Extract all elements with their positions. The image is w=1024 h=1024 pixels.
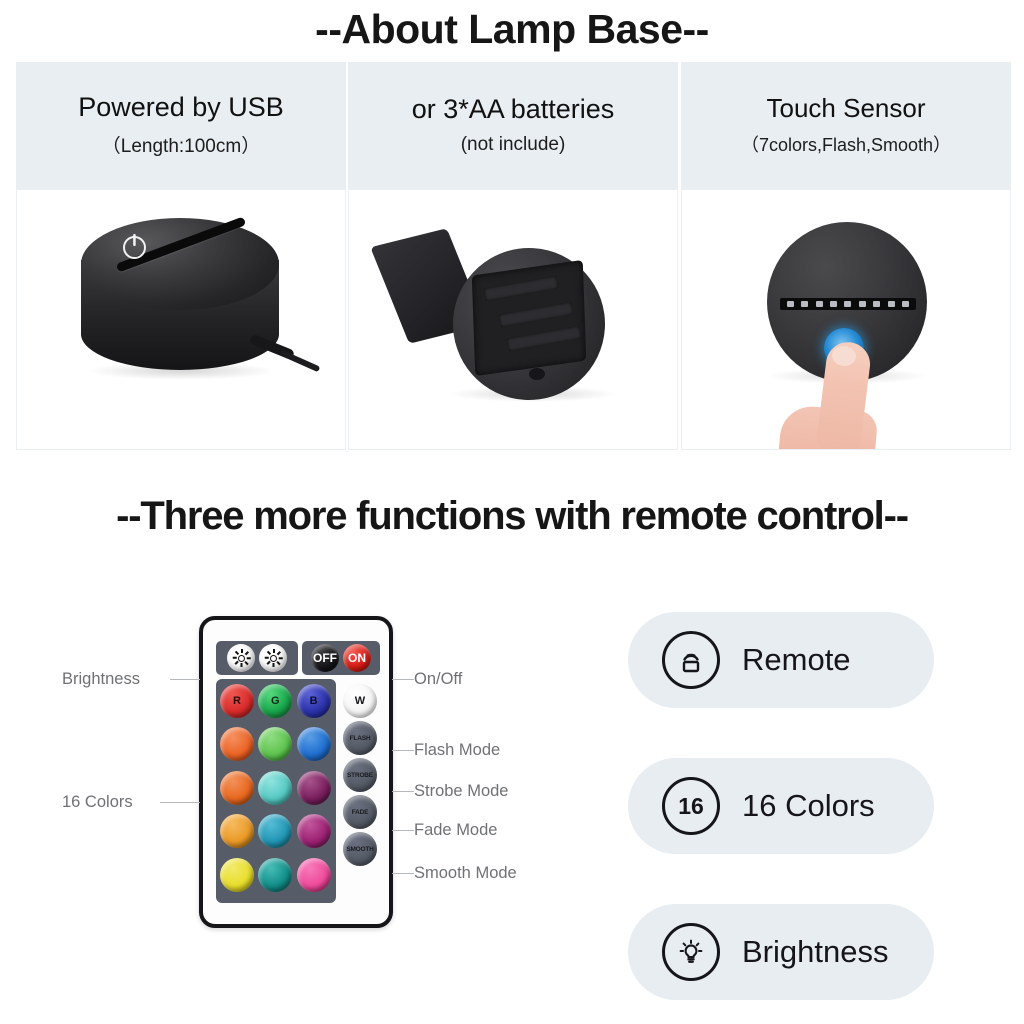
page-title-lamp-base: --About Lamp Base-- (0, 6, 1024, 53)
pill-label: 16 Colors (742, 788, 875, 824)
red-button[interactable]: R (220, 684, 254, 718)
callout-leader-line (392, 873, 414, 874)
callout-smooth-mode: Smooth Mode (414, 864, 517, 883)
callout-16-colors: 16 Colors (62, 793, 133, 812)
led-dot (844, 301, 851, 307)
color-button[interactable] (220, 727, 254, 761)
led-dot (888, 301, 895, 307)
feature-card-usb: Powered by USB （Length:100cm） (16, 62, 346, 450)
usb-lamp-base-photo (16, 189, 346, 450)
flash-mode-button[interactable]: FLASH (343, 721, 377, 755)
color-button[interactable] (297, 727, 331, 761)
color-button[interactable] (297, 771, 331, 805)
off-button[interactable]: OFF (311, 644, 339, 672)
green-button[interactable]: G (258, 684, 292, 718)
color-button[interactable] (258, 814, 292, 848)
color-button[interactable] (258, 771, 292, 805)
feature-card-touch-sensor: Touch Sensor （7colors,Flash,Smooth） (681, 62, 1011, 450)
callout-leader-line (160, 802, 200, 803)
usb-cable (280, 350, 321, 373)
strobe-mode-button[interactable]: STROBE (343, 758, 377, 792)
led-dot (787, 301, 794, 307)
callout-brightness: Brightness (62, 670, 140, 689)
color-button[interactable] (297, 858, 331, 892)
color-button[interactable] (258, 727, 292, 761)
lightbulb-icon (662, 923, 720, 981)
callout-leader-line (170, 679, 200, 680)
feature-pill-16-colors[interactable]: 16 16 Colors (628, 758, 934, 854)
card-subtitle: （7colors,Flash,Smooth） (741, 131, 951, 157)
callout-leader-line (392, 750, 414, 751)
page-title-remote-functions: --Three more functions with remote contr… (0, 494, 1024, 539)
blue-button[interactable]: B (297, 684, 331, 718)
battery-compartment-photo (348, 189, 678, 450)
callout-strobe-mode: Strobe Mode (414, 782, 508, 801)
remote-signal-icon (662, 631, 720, 689)
led-dot (830, 301, 837, 307)
pill-label: Remote (742, 642, 851, 678)
rubber-foot (529, 368, 545, 380)
power-touch-icon (123, 236, 146, 259)
color-button[interactable] (220, 771, 254, 805)
card-subtitle: （Length:100cm） (102, 131, 260, 158)
color-button[interactable] (258, 858, 292, 892)
led-dot (902, 301, 909, 307)
rgb-remote-control[interactable]: OFF ON R G B W FLASH STROBE FADE SMOOTH (199, 616, 393, 928)
sun-icon (233, 650, 249, 666)
card-title: Powered by USB (78, 93, 284, 123)
color-button[interactable] (297, 814, 331, 848)
smooth-mode-button[interactable]: SMOOTH (343, 832, 377, 866)
card-header: or 3*AA batteries (not include) (348, 62, 678, 189)
touch-sensor-photo (681, 189, 1011, 450)
callout-flash-mode: Flash Mode (414, 741, 500, 760)
remote-mode-keypad: W FLASH STROBE FADE SMOOTH (338, 679, 382, 903)
callout-on-off: On/Off (414, 670, 462, 689)
color-button[interactable] (220, 858, 254, 892)
power-pad: OFF ON (302, 641, 380, 675)
badge-number: 16 (678, 793, 704, 820)
led-strip-slot (780, 298, 916, 310)
on-button[interactable]: ON (343, 644, 371, 672)
feature-pill-remote[interactable]: Remote (628, 612, 934, 708)
card-subtitle: (not include) (461, 134, 566, 156)
card-title: Touch Sensor (767, 94, 926, 123)
brightness-up-button[interactable] (227, 644, 255, 672)
lamp-base-top-surface (81, 218, 279, 310)
callout-leader-line (392, 679, 414, 680)
color-button[interactable] (220, 814, 254, 848)
sun-icon (265, 650, 281, 666)
led-dot (873, 301, 880, 307)
brightness-down-button[interactable] (259, 644, 287, 672)
card-header: Powered by USB （Length:100cm） (16, 62, 346, 189)
callout-fade-mode: Fade Mode (414, 821, 497, 840)
led-dot (859, 301, 866, 307)
feature-pill-brightness[interactable]: Brightness (628, 904, 934, 1000)
pill-label: Brightness (742, 934, 888, 970)
led-dot (816, 301, 823, 307)
fade-mode-button[interactable]: FADE (343, 795, 377, 829)
remote-top-row: OFF ON (216, 641, 380, 675)
white-button[interactable]: W (343, 684, 377, 718)
led-dot (801, 301, 808, 307)
callout-leader-line (392, 791, 414, 792)
card-header: Touch Sensor （7colors,Flash,Smooth） (681, 62, 1011, 189)
feature-card-batteries: or 3*AA batteries (not include) (348, 62, 678, 450)
card-title: or 3*AA batteries (412, 95, 615, 125)
remote-color-keypad: R G B (216, 679, 336, 903)
number-badge-icon: 16 (662, 777, 720, 835)
brightness-pad (216, 641, 298, 675)
callout-leader-line (392, 830, 414, 831)
